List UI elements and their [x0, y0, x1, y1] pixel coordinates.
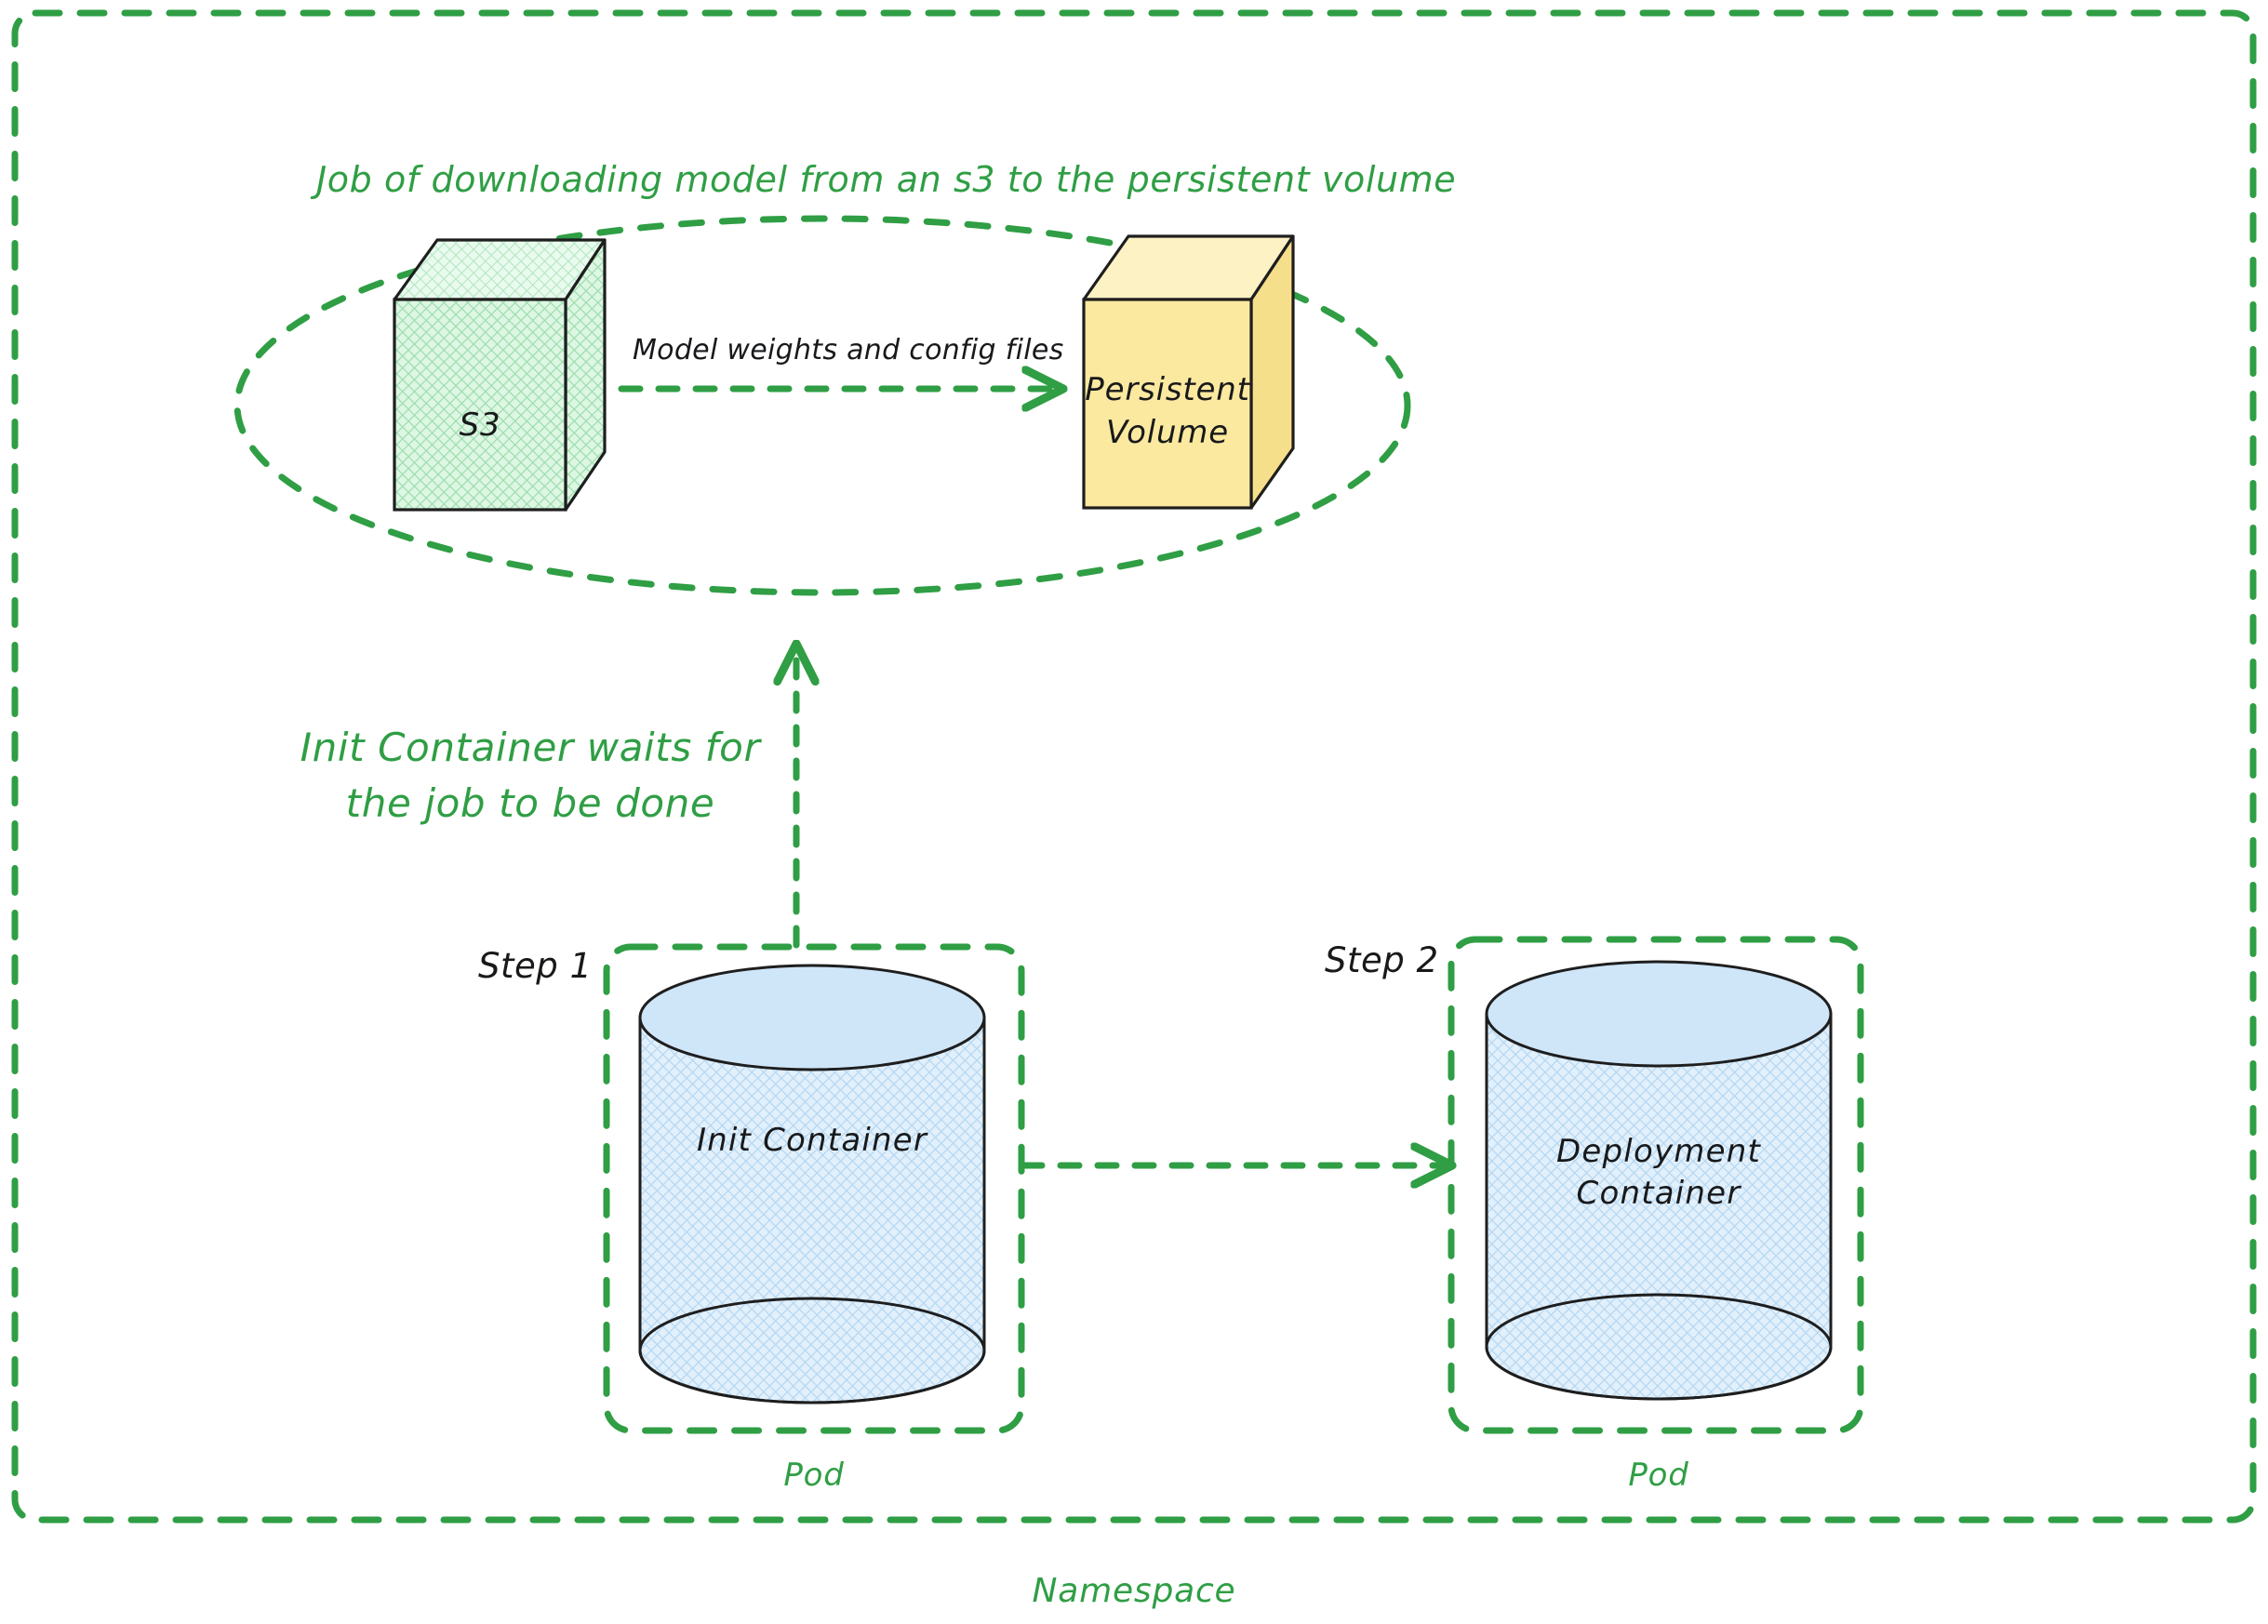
init-wait-note-line1: Init Container waits for: [279, 724, 781, 773]
s3-label: S3: [394, 406, 566, 446]
step-2-label: Step 2: [1325, 939, 1439, 982]
init-container-cylinder: [640, 965, 984, 1403]
transfer-edge-label: Model weights and config files: [633, 333, 1064, 368]
diagram-canvas: Job of downloading model from an s3 to t…: [0, 0, 2268, 1624]
step-1-label: Step 1: [478, 945, 593, 988]
s3-cube: [394, 240, 605, 510]
init-wait-note-line2: the job to be done: [279, 779, 781, 829]
deployment-container-label-line2: Container: [1487, 1174, 1831, 1214]
pod-1-label: Pod: [642, 1456, 986, 1496]
pod-2-label: Pod: [1487, 1456, 1831, 1496]
deployment-container-label-line1: Deployment: [1487, 1132, 1831, 1172]
persistent-volume-label-line1: Persistent: [1072, 370, 1263, 410]
persistent-volume-label-line2: Volume: [1072, 413, 1263, 453]
init-container-label: Init Container: [640, 1121, 984, 1161]
job-title-label: Job of downloading model from an s3 to t…: [316, 158, 1456, 203]
namespace-label: Namespace: [901, 1570, 1367, 1612]
